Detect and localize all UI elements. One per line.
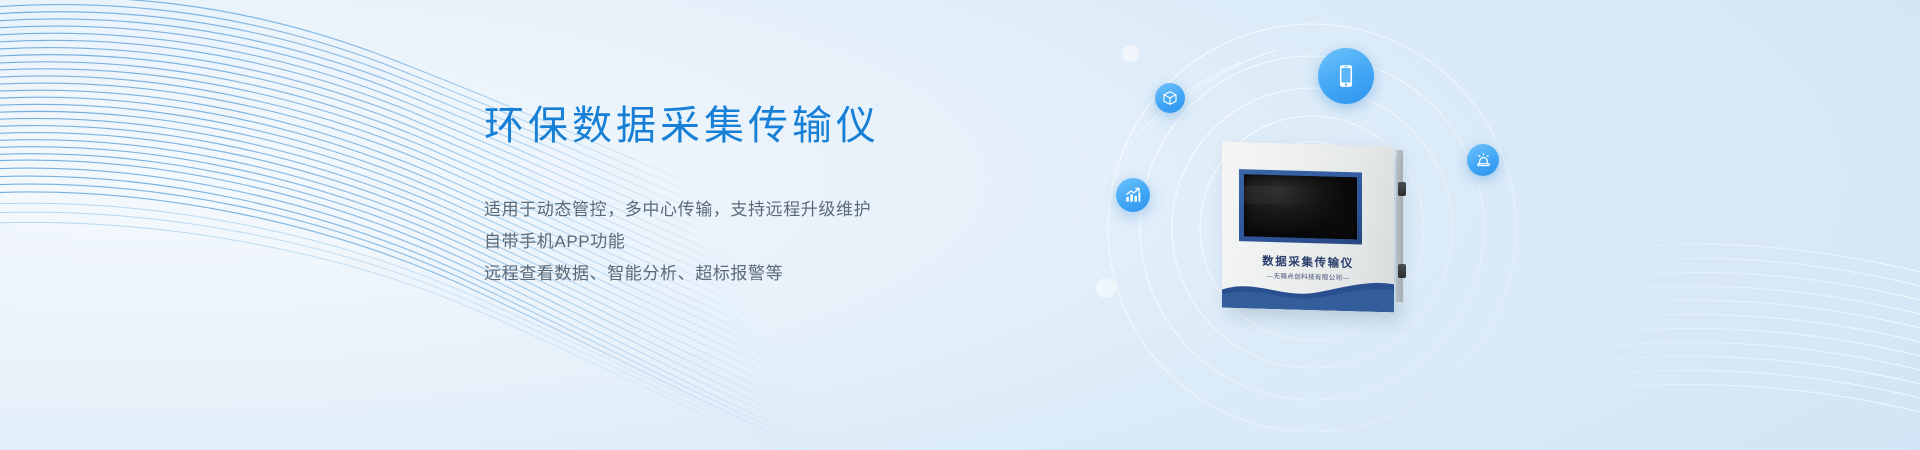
bubble-bar-chart[interactable]: [1116, 178, 1150, 212]
package-box-icon: [1162, 90, 1178, 106]
product-banner: 环保数据采集传输仪 适用于动态管控，多中心传输，支持远程升级维护 自带手机APP…: [0, 0, 1920, 450]
device-wave-graphic: [1222, 268, 1394, 313]
feature-item-3: 远程查看数据、智能分析、超标报警等: [484, 258, 1104, 290]
feature-item-1: 适用于动态管控，多中心传输，支持远程升级维护: [484, 194, 1104, 226]
device-connector-bottom: [1398, 264, 1406, 278]
feature-item-2: 自带手机APP功能: [484, 226, 1104, 258]
bubble-alarm-siren[interactable]: [1467, 144, 1499, 176]
bar-chart-growth-icon: [1124, 186, 1142, 204]
decorative-dot: [1122, 45, 1139, 62]
device-side-panel: [1396, 150, 1403, 302]
device-connector-top: [1398, 182, 1406, 196]
bubble-package-box[interactable]: [1155, 83, 1185, 113]
product-device-image: 数据采集传输仪 —无锡点创科技有限公司—: [1222, 144, 1398, 312]
device-screen-bezel: [1239, 169, 1362, 244]
page-title: 环保数据采集传输仪: [484, 104, 1104, 148]
alarm-siren-icon: [1475, 152, 1492, 169]
banner-text-block: 环保数据采集传输仪 适用于动态管控，多中心传输，支持远程升级维护 自带手机APP…: [484, 104, 1104, 290]
mobile-phone-icon: [1333, 63, 1359, 89]
feature-list: 适用于动态管控，多中心传输，支持远程升级维护 自带手机APP功能 远程查看数据、…: [484, 194, 1104, 290]
device-front-panel: 数据采集传输仪 —无锡点创科技有限公司—: [1222, 142, 1394, 313]
device-screen: [1244, 174, 1357, 239]
bubble-mobile-phone[interactable]: [1318, 48, 1374, 104]
